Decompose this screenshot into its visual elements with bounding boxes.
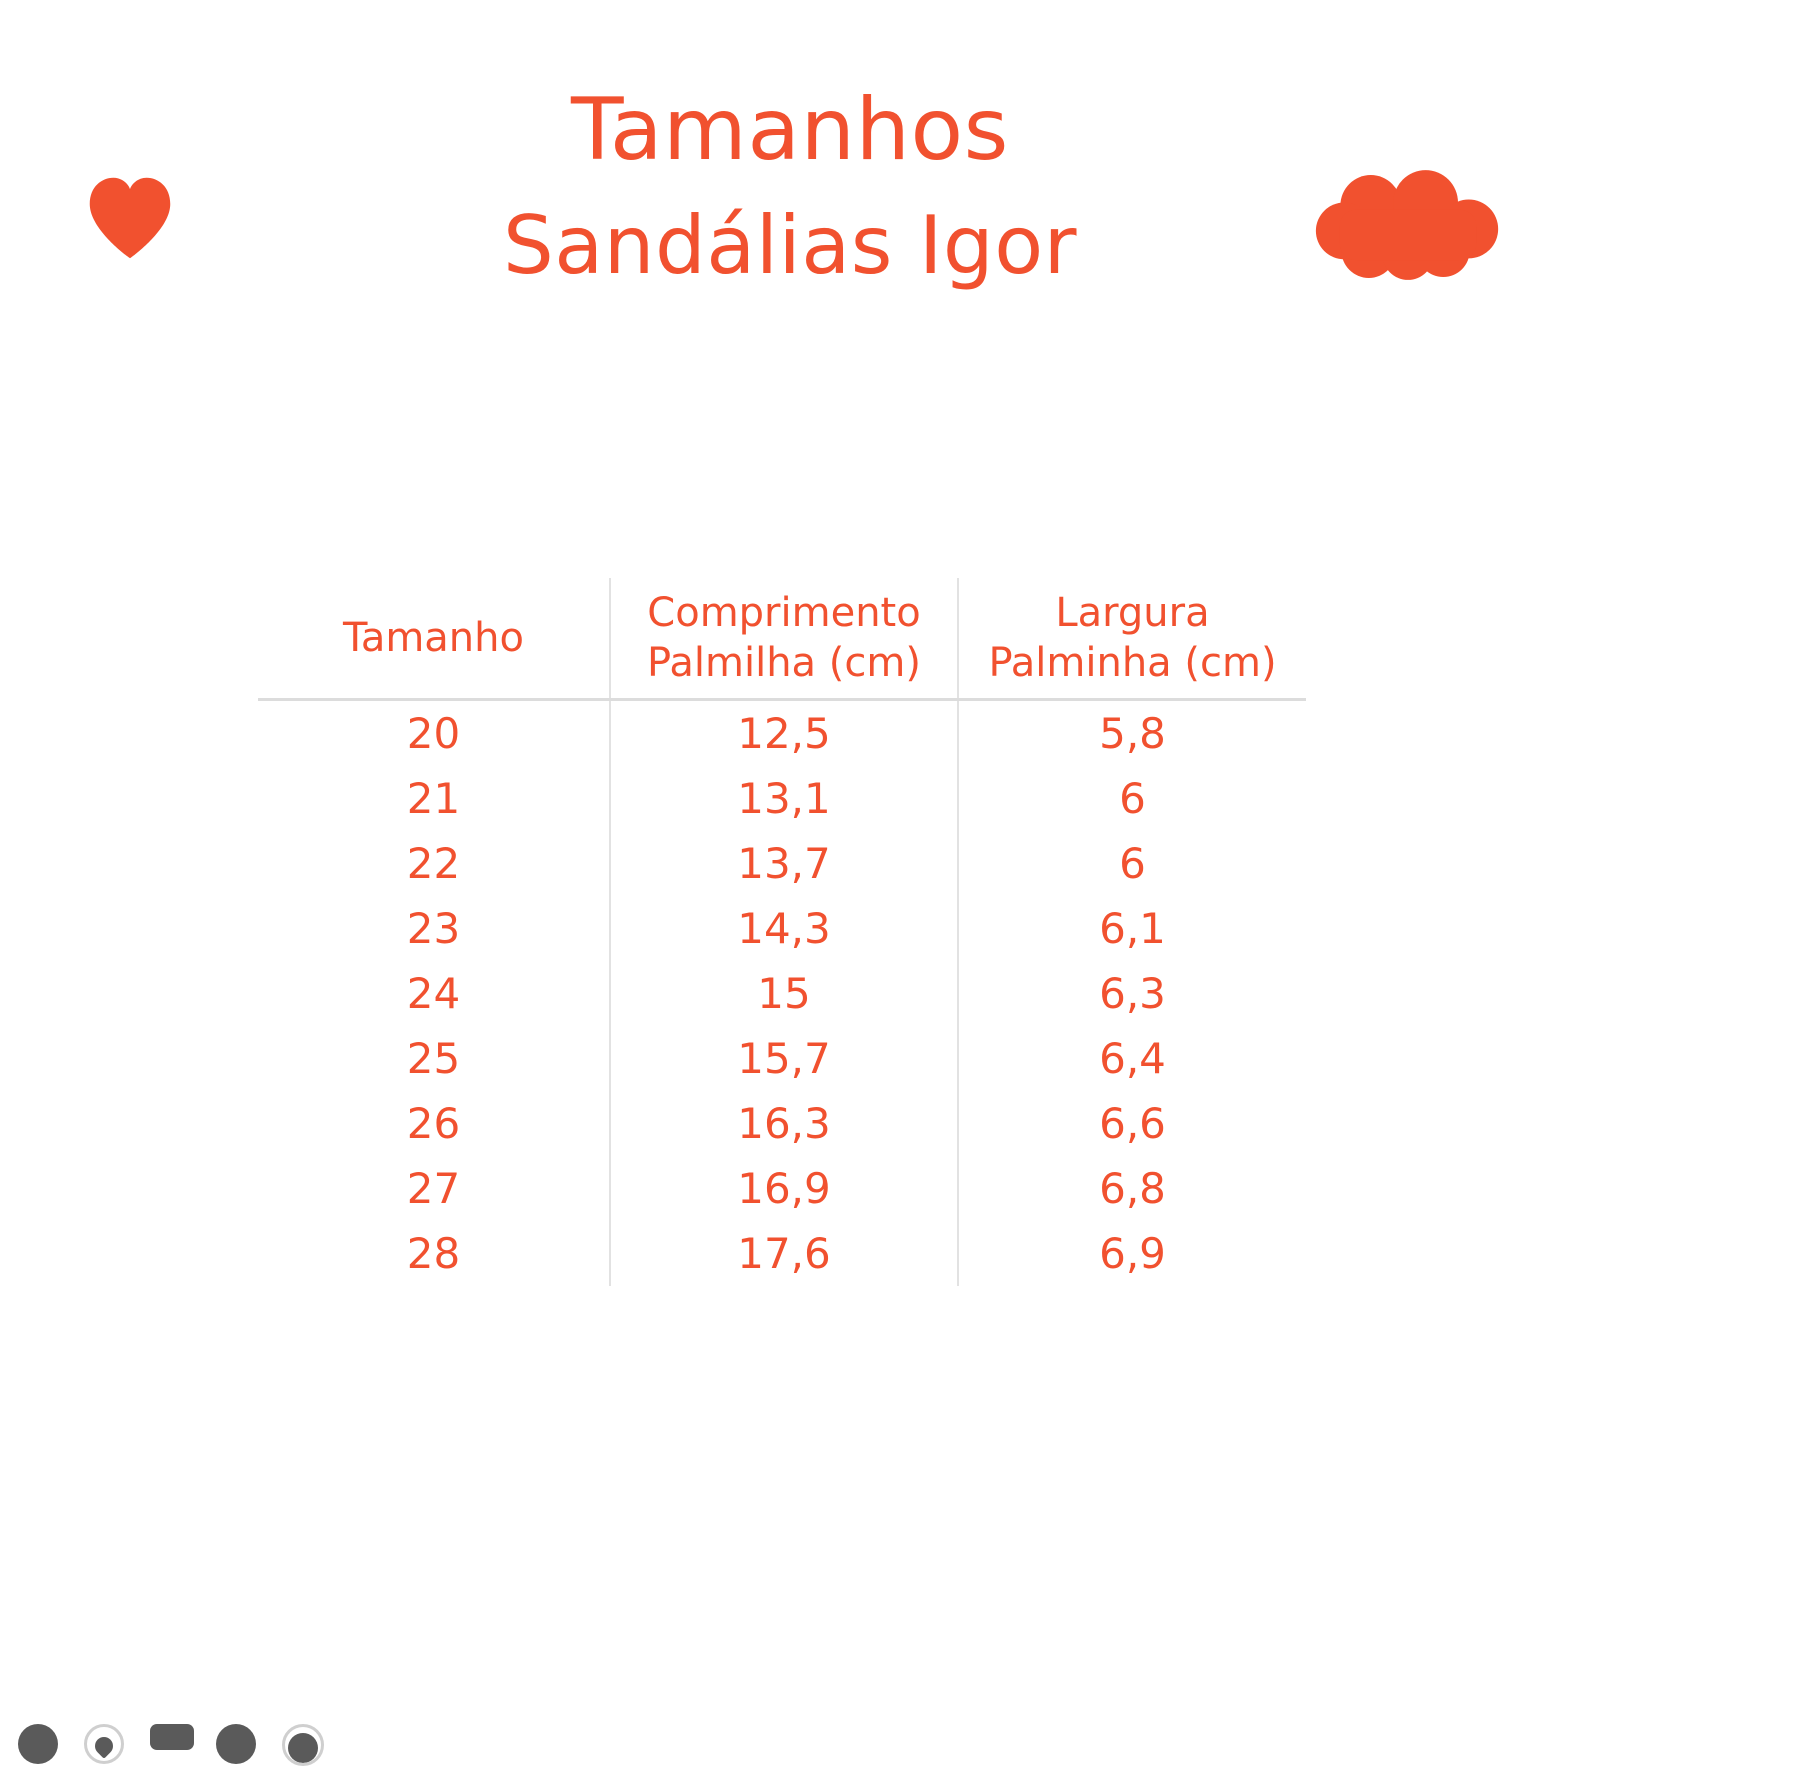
cell-size: 23 bbox=[258, 896, 610, 961]
page-title-line-1: Tamanhos bbox=[0, 84, 1580, 177]
column-header-comprimento-line1: Comprimento bbox=[611, 588, 957, 638]
cell-size: 21 bbox=[258, 766, 610, 831]
cell-width: 6,1 bbox=[958, 896, 1306, 961]
cell-width: 6,6 bbox=[958, 1091, 1306, 1156]
size-chart-table-container: Tamanho Comprimento Palmilha (cm) Largur… bbox=[258, 578, 1306, 1286]
table-body: 20 12,5 5,8 21 13,1 6 22 13,7 6 23 14,3 … bbox=[258, 700, 1306, 1287]
social-icon-3[interactable] bbox=[282, 1724, 322, 1764]
column-header-tamanho: Tamanho bbox=[258, 578, 610, 700]
cell-size: 26 bbox=[258, 1091, 610, 1156]
column-header-largura-line2: Palminha (cm) bbox=[959, 638, 1306, 688]
cell-width: 6 bbox=[958, 831, 1306, 896]
pin-icon[interactable] bbox=[84, 1724, 124, 1764]
column-header-comprimento-line2: Palmilha (cm) bbox=[611, 638, 957, 688]
cell-size: 20 bbox=[258, 700, 610, 767]
cell-length: 16,9 bbox=[610, 1156, 958, 1221]
column-header-largura-line1: Largura bbox=[959, 588, 1306, 638]
cell-size: 28 bbox=[258, 1221, 610, 1286]
bottom-icon-strip bbox=[18, 1724, 322, 1764]
social-icon-2[interactable] bbox=[216, 1724, 256, 1764]
cell-length: 15,7 bbox=[610, 1026, 958, 1091]
social-icon-1[interactable] bbox=[18, 1724, 58, 1764]
cell-length: 15 bbox=[610, 961, 958, 1026]
table-row: 27 16,9 6,8 bbox=[258, 1156, 1306, 1221]
cell-width: 6,9 bbox=[958, 1221, 1306, 1286]
table-row: 21 13,1 6 bbox=[258, 766, 1306, 831]
size-chart-table: Tamanho Comprimento Palmilha (cm) Largur… bbox=[258, 578, 1306, 1286]
cell-length: 12,5 bbox=[610, 700, 958, 767]
cell-size: 22 bbox=[258, 831, 610, 896]
cell-size: 25 bbox=[258, 1026, 610, 1091]
table-row: 20 12,5 5,8 bbox=[258, 700, 1306, 767]
cell-width: 6,8 bbox=[958, 1156, 1306, 1221]
column-header-largura: Largura Palminha (cm) bbox=[958, 578, 1306, 700]
page-title: Tamanhos Sandálias Igor bbox=[0, 84, 1580, 289]
column-header-tamanho-line1: Tamanho bbox=[258, 613, 609, 663]
cell-length: 13,7 bbox=[610, 831, 958, 896]
cell-length: 14,3 bbox=[610, 896, 958, 961]
cell-width: 5,8 bbox=[958, 700, 1306, 767]
table-row: 22 13,7 6 bbox=[258, 831, 1306, 896]
table-row: 23 14,3 6,1 bbox=[258, 896, 1306, 961]
cell-size: 27 bbox=[258, 1156, 610, 1221]
cell-width: 6 bbox=[958, 766, 1306, 831]
page-title-line-2: Sandálias Igor bbox=[0, 203, 1580, 289]
rounded-bar-icon[interactable] bbox=[150, 1724, 190, 1764]
table-row: 28 17,6 6,9 bbox=[258, 1221, 1306, 1286]
column-header-comprimento: Comprimento Palmilha (cm) bbox=[610, 578, 958, 700]
cell-length: 17,6 bbox=[610, 1221, 958, 1286]
cell-length: 16,3 bbox=[610, 1091, 958, 1156]
table-header-row: Tamanho Comprimento Palmilha (cm) Largur… bbox=[258, 578, 1306, 700]
table-row: 26 16,3 6,6 bbox=[258, 1091, 1306, 1156]
cell-length: 13,1 bbox=[610, 766, 958, 831]
cell-width: 6,4 bbox=[958, 1026, 1306, 1091]
cell-width: 6,3 bbox=[958, 961, 1306, 1026]
table-row: 25 15,7 6,4 bbox=[258, 1026, 1306, 1091]
cell-size: 24 bbox=[258, 961, 610, 1026]
table-row: 24 15 6,3 bbox=[258, 961, 1306, 1026]
